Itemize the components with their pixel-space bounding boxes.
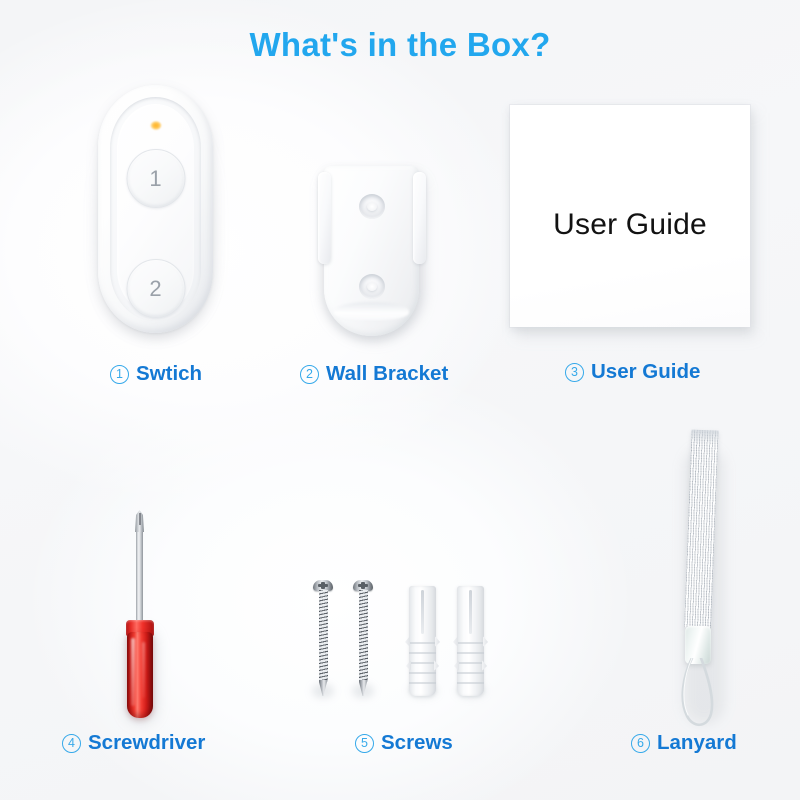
caption-label: Wall Bracket (326, 362, 448, 386)
switch-bezel: 1 2 (110, 97, 201, 321)
bracket-rail-left (318, 172, 331, 264)
anchor-barb (482, 660, 487, 671)
screw-point (359, 680, 368, 696)
anchor-barb (405, 636, 410, 647)
anchor-slot (421, 590, 424, 634)
bracket-screw-hole-bottom (359, 274, 385, 299)
caption-user-guide: 3 User Guide (565, 360, 700, 384)
wall-anchor-item (409, 586, 436, 696)
product-image-screwdriver (108, 508, 172, 720)
switch-button-2: 2 (126, 259, 185, 318)
bracket-rail-right (413, 172, 426, 264)
page-title: What's in the Box? (0, 26, 800, 64)
guide-cover: User Guide (510, 105, 750, 327)
anchor-barb (434, 660, 439, 671)
caption-label: User Guide (591, 360, 700, 384)
caption-number-badge: 3 (565, 363, 584, 382)
caption-lanyard: 6 Lanyard (631, 731, 737, 755)
product-image-user-guide: User Guide (510, 105, 758, 335)
bracket-bottom-lip (334, 302, 409, 320)
screw-item (353, 580, 373, 698)
screwdriver-phillips-tip-icon (135, 510, 144, 532)
caption-number-badge: 6 (631, 734, 650, 753)
caption-label: Swtich (136, 362, 202, 386)
caption-label: Lanyard (657, 731, 737, 755)
whats-in-the-box-graphic: What's in the Box? 1 2 User Guide (0, 0, 800, 800)
anchor-barb (483, 636, 488, 647)
switch-led-indicator-icon (150, 121, 161, 130)
screw-thread (359, 590, 368, 682)
product-image-lanyard (668, 430, 740, 730)
caption-label: Screws (381, 731, 453, 755)
screwdriver-handle (127, 632, 153, 718)
caption-switch: 1 Swtich (110, 362, 202, 386)
product-image-switch: 1 2 (88, 80, 223, 342)
anchor-fins (409, 634, 436, 692)
anchor-barb (435, 636, 440, 647)
caption-wall-bracket: 2 Wall Bracket (300, 362, 448, 386)
screw-thread (319, 590, 328, 682)
caption-screws: 5 Screws (355, 731, 453, 755)
caption-screwdriver: 4 Screwdriver (62, 731, 205, 755)
guide-cover-text: User Guide (553, 208, 707, 242)
product-image-wall-bracket (316, 166, 428, 344)
bracket-screw-hole-top (359, 194, 385, 219)
caption-number-badge: 1 (110, 365, 129, 384)
lanyard-cord-loop-icon (677, 658, 719, 730)
switch-body: 1 2 (98, 85, 213, 333)
screw-item (313, 580, 333, 698)
caption-label: Screwdriver (88, 731, 205, 755)
wall-anchor-item (457, 586, 484, 696)
switch-button-1: 1 (126, 149, 185, 208)
caption-number-badge: 5 (355, 734, 374, 753)
bracket-plate (324, 166, 419, 336)
anchor-fins (457, 634, 484, 692)
switch-face: 1 2 (117, 104, 194, 314)
anchor-barb (453, 636, 458, 647)
caption-number-badge: 2 (300, 365, 319, 384)
screw-point (319, 680, 328, 696)
product-image-screws (305, 580, 495, 715)
caption-number-badge: 4 (62, 734, 81, 753)
anchor-slot (469, 590, 472, 634)
